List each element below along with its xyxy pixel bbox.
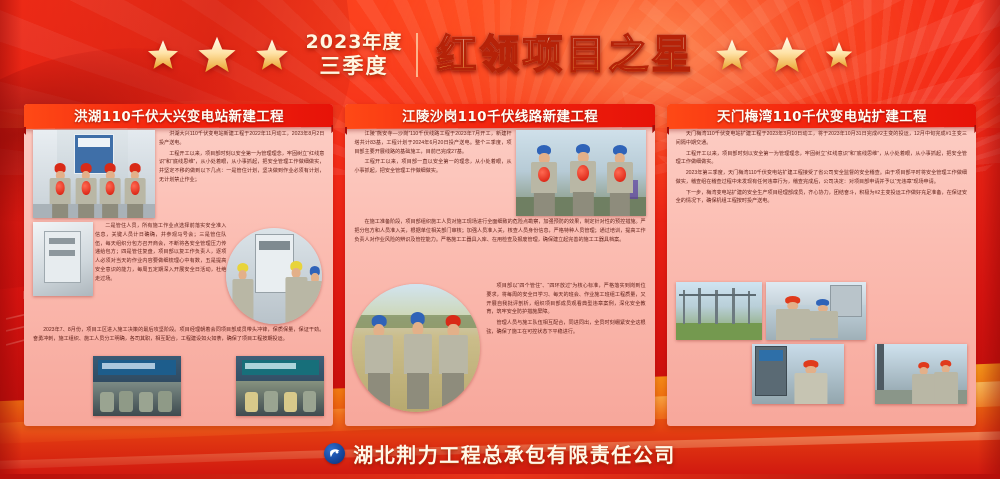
panel-title: 天门梅湾110千伏变电站扩建工程: [716, 105, 926, 125]
panel-tianmen: 天门梅湾110千伏变电站扩建工程 天门梅湾110千伏变电站扩建工程于2023年3…: [667, 104, 976, 426]
panel-title: 江陵沙岗110千伏线路新建工程: [402, 105, 598, 125]
panel-body: 洪湖大兴110千伏变电站新建工程于2022年11月动工，2023年8月2日投产送…: [33, 130, 324, 418]
panel-title: 洪湖110千伏大兴变电站新建工程: [74, 105, 284, 125]
star-icon: [254, 37, 290, 73]
panel-paragraph: 天门梅湾110千伏变电站扩建工程于2023年3月10日动工，将于2023年10月…: [676, 130, 967, 148]
photo-meeting-room-1: [93, 356, 181, 416]
panel-paragraph: 2023年第三季度，天门梅湾110千伏变电站扩建工程接受了省公司安全监督的安全稽…: [676, 169, 967, 187]
panel-paragraph: 管理人员与施工队伍相互配合，同进同出，全员时刻绷紧安全这根弦，确保了施工在可控状…: [486, 319, 645, 337]
panel-paragraph: 工程开工以来，项目部时刻以安全第一为管理理念，牢固树立“红线意识”和“底线思维”…: [676, 150, 967, 168]
company-name: 湖北荆力工程总承包有限责任公司: [353, 439, 676, 468]
panel-title-ribbon: 天门梅湾110千伏变电站扩建工程: [667, 104, 976, 129]
project-panels: 洪湖110千伏大兴变电站新建工程: [24, 104, 976, 426]
panel-paragraph: 项目部以“四个管住”、“四环放过”为核心标准，严格落实到岗到位要求，将每周的安全…: [486, 282, 645, 317]
panel-paragraph: 工程开工以来，项目部一直以安全第一的理念，从小处着眼，从小事抓起，把安全管理工作…: [354, 158, 511, 176]
panel-paragraph: 在施工准备阶段，项目部组织施工人员对施工现场进行全面细致的危险点勘察，加强预防的…: [354, 218, 645, 244]
company-footer: 湖北荆力工程总承包有限责任公司: [0, 433, 1000, 473]
panel-paragraph: 下一步，梅湾变电站扩建的安全生产项目经理部成员，齐心协力，团结奋斗，积极为#2主…: [676, 189, 967, 207]
panel-body: 江陵“熊安寺—沙岗”110千伏线路工程于2023年7月开工，新建杆塔共计83基，…: [354, 130, 645, 418]
panel-honghu: 洪湖110千伏大兴变电站新建工程: [24, 104, 333, 426]
company-logo-icon: [324, 443, 345, 464]
photo-three-workers-award: [516, 130, 646, 216]
panel-paragraph: 洪湖大兴110千伏变电站新建工程于2022年11月动工，2023年8月2日投产送…: [159, 130, 324, 148]
panel-title-ribbon: 洪湖110千伏大兴变电站新建工程: [24, 104, 333, 129]
quarter-label: 三季度: [319, 55, 388, 77]
panel-paragraph: 江陵“熊安寺—沙岗”110千伏线路工程于2023年7月开工，新建杆塔共计83基，…: [354, 130, 511, 156]
photo-team-front-building: [33, 130, 155, 218]
page-title: 红领项目之星: [432, 33, 698, 77]
poster-header: 2023年度 三季度 红领项目之星: [0, 14, 1000, 96]
photo-two-workers-site: [875, 344, 967, 404]
panel-paragraph: 工程开工以来，项目部时刻以安全第一为管理理念，牢固树立“红线意识”和“底线思维”…: [159, 150, 324, 185]
star-icon: [766, 34, 808, 76]
year-label: 2023年度: [306, 33, 403, 53]
frame-edge-bottom: [0, 474, 1000, 479]
star-icon: [146, 38, 180, 72]
photo-worker-cabinet: [752, 344, 844, 404]
photo-meeting-room-2: [236, 356, 324, 416]
year-quarter-block: 2023年度 三季度: [306, 33, 419, 77]
panel-body: 天门梅湾110千伏变电站扩建工程于2023年3月10日动工，将于2023年10月…: [676, 130, 967, 418]
photo-workers-cables: [766, 282, 866, 340]
star-icon: [714, 37, 750, 73]
star-icon: [824, 40, 854, 70]
photo-field-team: [352, 284, 480, 412]
poster-root: 2023年度 三季度 红领项目之星 洪湖110千伏大兴变电站新建工程: [0, 0, 1000, 479]
photo-substation-yard: [676, 282, 762, 340]
panel-title-ribbon: 江陵沙岗110千伏线路新建工程: [345, 104, 654, 129]
title-block: 2023年度 三季度 红领项目之星: [306, 33, 699, 77]
star-icon: [196, 34, 238, 76]
panel-paragraph: 2023年7、8月份，项目工区进入施工决策的最后攻坚阶段。项目经理朝着会同项目部…: [33, 326, 324, 344]
panel-jiangling: 江陵沙岗110千伏线路新建工程: [345, 104, 654, 426]
